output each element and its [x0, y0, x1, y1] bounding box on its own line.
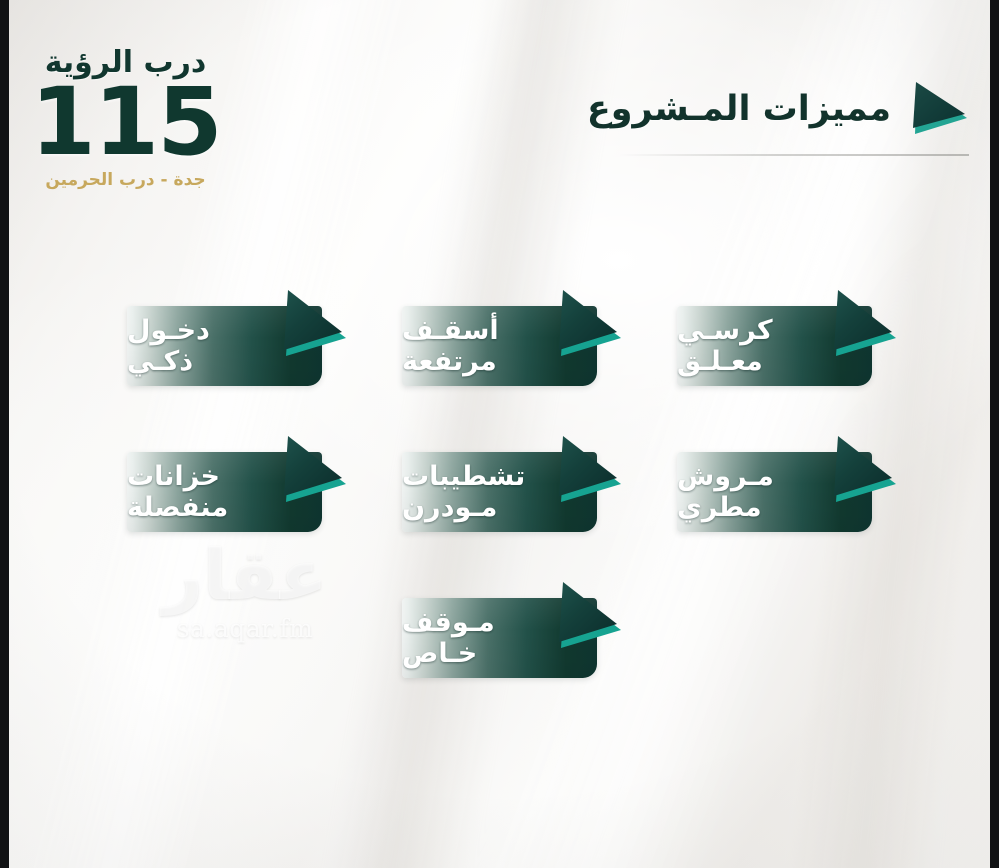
feature-label-line1: تشطيبات: [402, 462, 525, 491]
feature-label: مـوقفخـاص: [402, 598, 597, 678]
feature-label-line1: مـروش: [677, 462, 774, 491]
feature-grid: دخـولذكـي أسقـفمرتفعة كرسـيمعـلـق: [0, 286, 999, 724]
feature-row: دخـولذكـي أسقـفمرتفعة كرسـيمعـلـق: [0, 286, 999, 386]
project-location: جدة - درب الحرمين: [18, 172, 233, 189]
feature-label-line1: كرسـي: [677, 316, 773, 345]
feature-label: أسقـفمرتفعة: [402, 306, 597, 386]
feature-label-line2: ذكـي: [127, 347, 193, 376]
project-number: 115: [18, 80, 233, 166]
triangle-right-icon: [905, 78, 971, 140]
right-edge-bar: [990, 0, 999, 868]
feature-label-line2: خـاص: [402, 639, 477, 668]
feature-badge-hanging-chair[interactable]: كرسـيمعـلـق: [677, 286, 872, 386]
header-underline: [619, 154, 969, 156]
feature-label-line2: منفصلة: [127, 493, 228, 522]
feature-label: كرسـيمعـلـق: [677, 306, 872, 386]
feature-label: مـروشمطري: [677, 452, 872, 532]
feature-badge-modern-finishes[interactable]: تشطيباتمـودرن: [402, 432, 597, 532]
feature-label-line2: مرتفعة: [402, 347, 497, 376]
left-edge-bar: [0, 0, 9, 868]
feature-badge-high-ceilings[interactable]: أسقـفمرتفعة: [402, 286, 597, 386]
feature-label-line2: معـلـق: [677, 347, 763, 376]
feature-label-line2: مطري: [677, 493, 762, 522]
feature-badge-separate-closets[interactable]: خزاناتمنفصلة: [127, 432, 322, 532]
feature-label-line1: أسقـف: [402, 316, 499, 345]
feature-badge-private-parking[interactable]: مـوقفخـاص: [402, 578, 597, 678]
feature-badge-smart-entry[interactable]: دخـولذكـي: [127, 286, 322, 386]
feature-label-line1: مـوقف: [402, 608, 495, 637]
feature-badge-rain-shower[interactable]: مـروشمطري: [677, 432, 872, 532]
section-header: مميزات المـشروع: [541, 78, 971, 162]
feature-label-line1: خزانات: [127, 462, 220, 491]
feature-label: تشطيباتمـودرن: [402, 452, 597, 532]
feature-label-line2: مـودرن: [402, 493, 497, 522]
feature-label-line1: دخـول: [127, 316, 210, 345]
section-title: مميزات المـشروع: [587, 89, 891, 129]
feature-label: خزاناتمنفصلة: [127, 452, 322, 532]
promo-poster: درب الرؤية 115 جدة - درب الحرمين: [0, 0, 999, 868]
brand-logo: درب الرؤية 115 جدة - درب الحرمين: [18, 48, 233, 189]
feature-row: مـوقفخـاص: [0, 578, 999, 678]
feature-label: دخـولذكـي: [127, 306, 322, 386]
feature-row: خزاناتمنفصلة تشطيباتمـودرن مـروشمطري: [0, 432, 999, 532]
